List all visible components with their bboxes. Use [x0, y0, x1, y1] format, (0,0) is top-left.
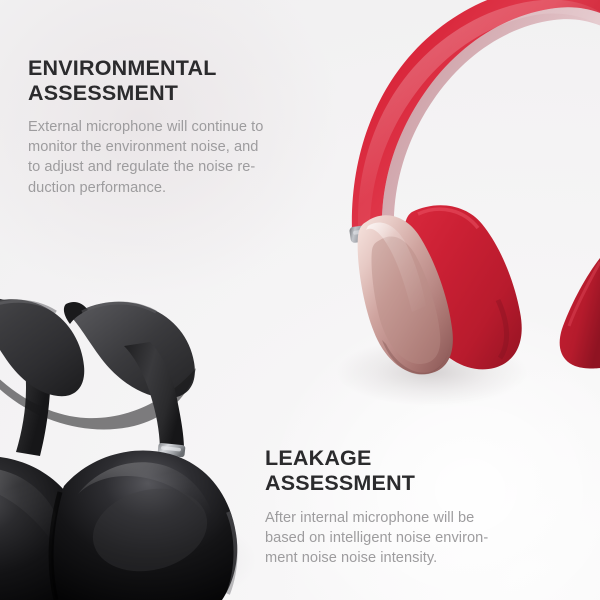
- environmental-assessment-body: External microphone will continue to mon…: [28, 117, 328, 198]
- callout-environmental-assessment: ENVIRONMENTAL ASSESSMENT External microp…: [28, 56, 328, 198]
- leakage-assessment-body: After internal microphone will be based …: [265, 508, 575, 569]
- environmental-assessment-headline: ENVIRONMENTAL ASSESSMENT: [28, 56, 328, 106]
- product-feature-poster: ENVIRONMENTAL ASSESSMENT External microp…: [0, 0, 600, 600]
- callout-leakage-assessment: LEAKAGE ASSESSMENT After internal microp…: [265, 446, 575, 569]
- leakage-assessment-headline: LEAKAGE ASSESSMENT: [265, 446, 575, 496]
